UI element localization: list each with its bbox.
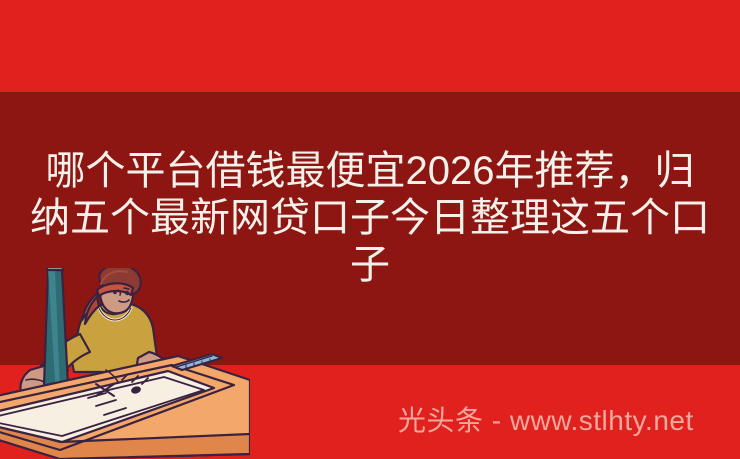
- page-title: 哪个平台借钱最便宜2026年推荐，归纳五个最新网贷口子今日整理这五个口子: [30, 148, 710, 289]
- person-drafting-illustration: [0, 268, 250, 459]
- poster-canvas: 哪个平台借钱最便宜2026年推荐，归纳五个最新网贷口子今日整理这五个口子 光头条…: [0, 0, 740, 459]
- site-watermark: 光头条 - www.stlhty.net: [398, 404, 694, 438]
- top-red-band: [0, 0, 740, 92]
